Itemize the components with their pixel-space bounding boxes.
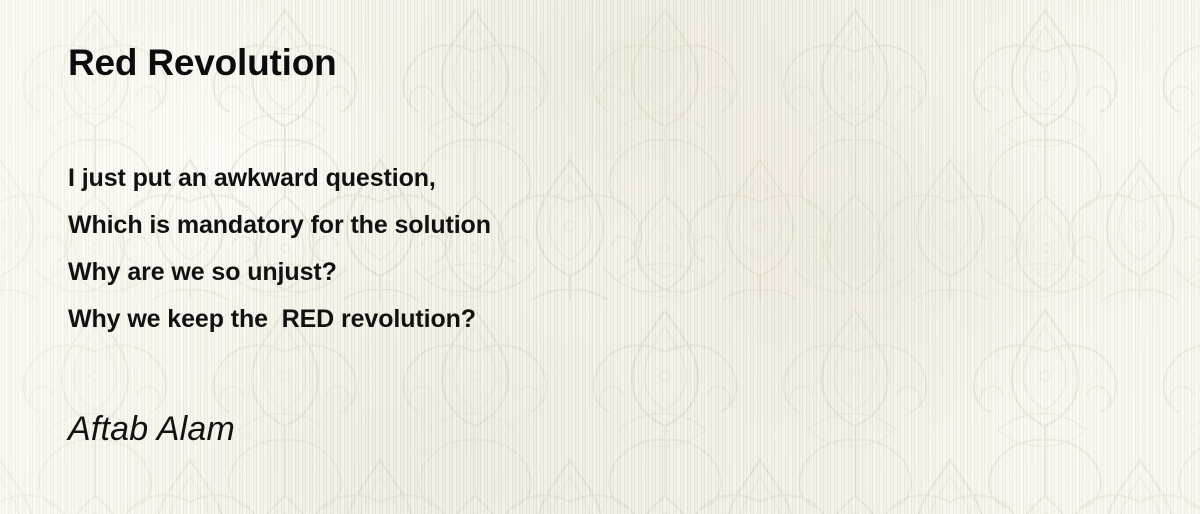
- poem-line: Why we keep the RED revolution?: [68, 296, 491, 343]
- poem-title: Red Revolution: [68, 44, 337, 83]
- poem-content: Red Revolution I just put an awkward que…: [68, 0, 1160, 514]
- poem-line: I just put an awkward question,: [68, 155, 491, 202]
- poem-line: Why are we so unjust?: [68, 249, 491, 296]
- poem-author: Aftab Alam: [68, 411, 235, 448]
- poem-card: Red Revolution I just put an awkward que…: [0, 0, 1200, 514]
- poem-body: I just put an awkward question, Which is…: [68, 155, 491, 343]
- poem-line: Which is mandatory for the solution: [68, 202, 491, 249]
